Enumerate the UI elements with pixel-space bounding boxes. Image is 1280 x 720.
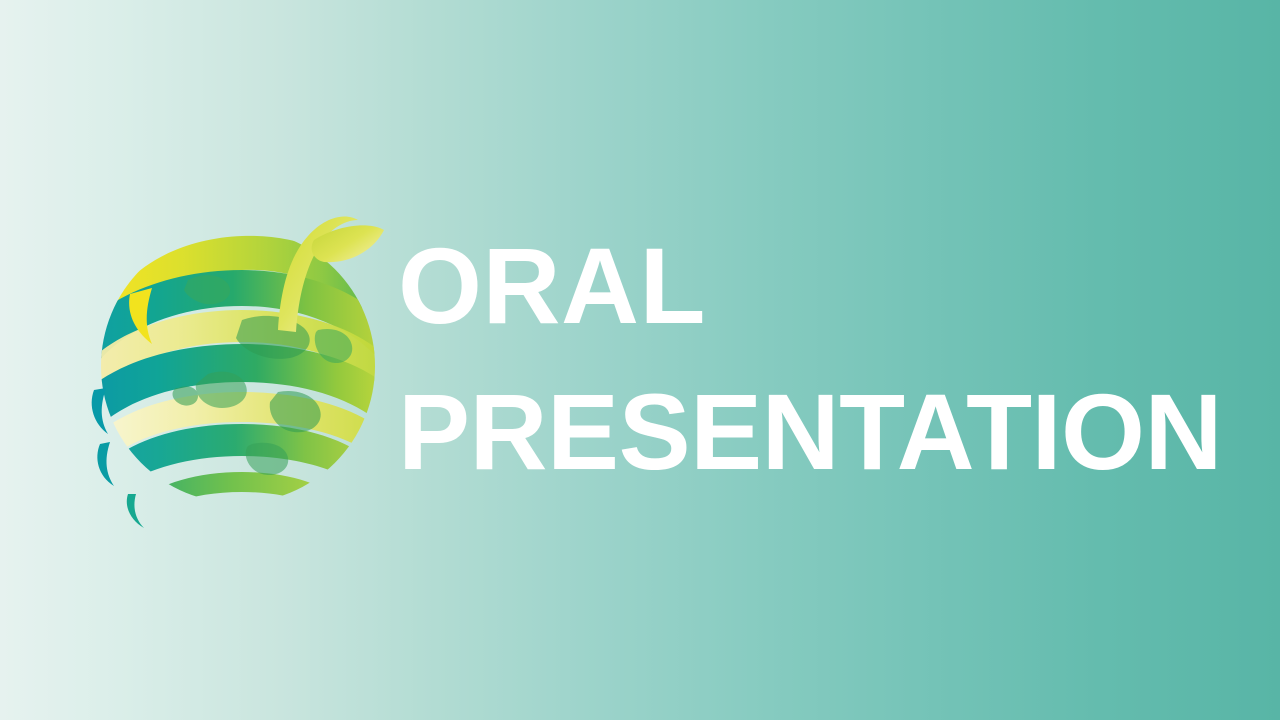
ribbon-tip-cyan-2 [97, 442, 114, 486]
page-title-line-2: PRESENTATION [398, 378, 1218, 486]
ribbon-tip-teal-1 [127, 494, 144, 528]
globe-logo-svg [92, 202, 384, 522]
globe-ribbon-leaf-logo [92, 202, 384, 522]
slide-title-block: ORAL PRESENTATION [398, 232, 1218, 486]
presentation-title-slide: ORAL PRESENTATION [0, 0, 1280, 720]
page-title-line-1: ORAL [398, 232, 1218, 340]
ribbon-band-7 [132, 472, 350, 520]
